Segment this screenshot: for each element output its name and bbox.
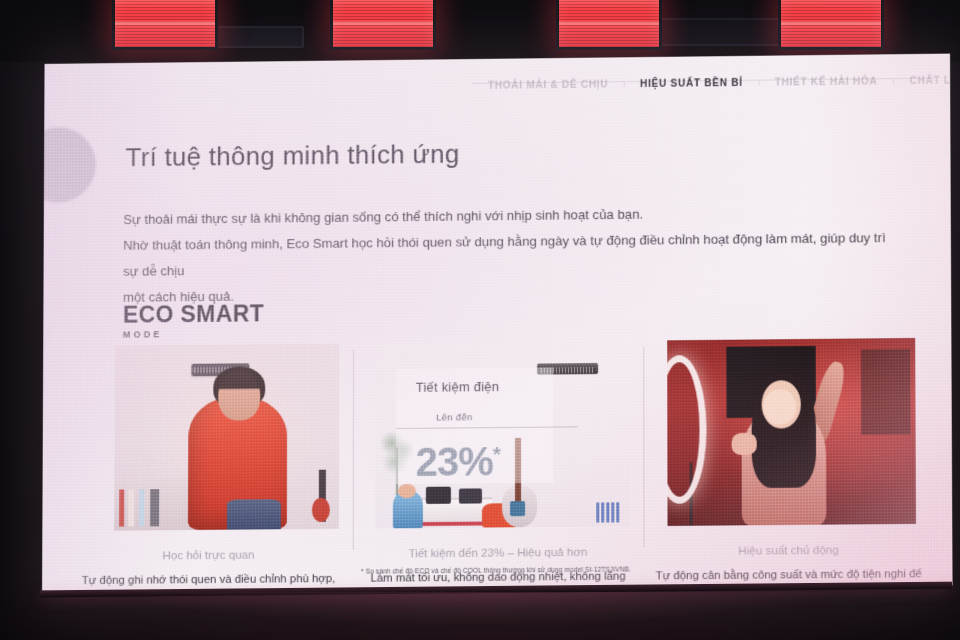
decorative-circle — [42, 127, 96, 203]
eco-smart-lockup: ECO SMART MODE — [123, 300, 264, 339]
photo-bright-room: Tiết kiệm điện Lên đến 23%* — [375, 341, 629, 529]
ceiling-truss — [0, 0, 960, 62]
rig-fixture — [212, 26, 304, 48]
feature-card-3 — [643, 282, 935, 558]
photo-desk-items — [119, 489, 187, 527]
red-led-panel-2 — [330, 0, 436, 50]
floor-glow — [60, 592, 900, 640]
rig-fixture-secondary — [640, 18, 790, 46]
nav-item-quality[interactable]: CHẤT LƯỢNG NHẬT BẢN — [893, 74, 952, 87]
red-led-panel-4 — [778, 0, 884, 50]
nav-item-performance[interactable]: HIỆU SUẤT BỀN BỈ — [624, 77, 759, 89]
presentation-led-screen: THOẢI MÁI & DỄ CHỊU HIỆU SUẤT BỀN BỈ THI… — [42, 54, 952, 593]
photo-person-jeans — [227, 500, 281, 530]
photo-equipment-1 — [426, 487, 451, 504]
photo-wall-right — [861, 349, 911, 435]
lockup-primary: ECO SMART — [123, 300, 264, 327]
stat-overlay-title: Tiết kiệm điện — [416, 379, 499, 395]
photo-person-face — [764, 389, 796, 425]
caption-title-2: Tiết kiệm đến 23% – Hiệu quả hơn — [363, 545, 633, 560]
stat-overlay-subtitle: Lên đến — [436, 413, 472, 424]
nav-item-comfort[interactable]: THOẢI MÁI & DỄ CHỊU — [472, 79, 624, 92]
photo-red-ball — [312, 497, 330, 521]
stat-overlay-value: 23%* — [416, 435, 500, 483]
page-title: Trí tuệ thông minh thích ứng — [125, 139, 459, 173]
photo-guitar-pickguard — [510, 501, 525, 516]
body-line-2: Nhờ thuật toán thông minh, Eco Smart học… — [123, 225, 903, 285]
photo-books — [596, 502, 619, 523]
photo-of-stage-screen: THOẢI MÁI & DỄ CHỊU HIỆU SUẤT BỀN BỈ THI… — [0, 0, 960, 640]
nav-item-design[interactable]: THIẾT KẾ HÀI HÒA — [759, 76, 894, 88]
photo-person-head — [218, 370, 261, 420]
caption-title-3: Hiệu suất chủ động — [653, 543, 924, 558]
lockup-secondary: MODE — [123, 328, 264, 339]
body-copy: Sự thoải mái thực sự là khi không gian s… — [123, 199, 903, 311]
slide-content: THOẢI MÁI & DỄ CHỊU HIỆU SUẤT BỀN BỈ THI… — [42, 54, 952, 593]
photo-celebrating-woman — [667, 338, 916, 526]
photo-clenched-fist — [732, 432, 757, 454]
photo-smiling-man — [114, 344, 339, 531]
slide-nav: THOẢI MÁI & DỄ CHỊU HIỆU SUẤT BỀN BỈ THI… — [472, 68, 934, 99]
caption-title-1: Học hỏi trực quan — [74, 548, 343, 563]
photo-equipment-2 — [459, 489, 482, 504]
red-led-panel-3 — [556, 0, 662, 50]
feature-card-2: Tiết kiệm điện Lên đến 23%* — [353, 285, 643, 560]
red-led-panel-1 — [112, 0, 218, 50]
stat-number: 23% — [416, 440, 493, 485]
stat-asterisk: * — [493, 444, 500, 466]
ring-light-icon — [667, 355, 707, 504]
